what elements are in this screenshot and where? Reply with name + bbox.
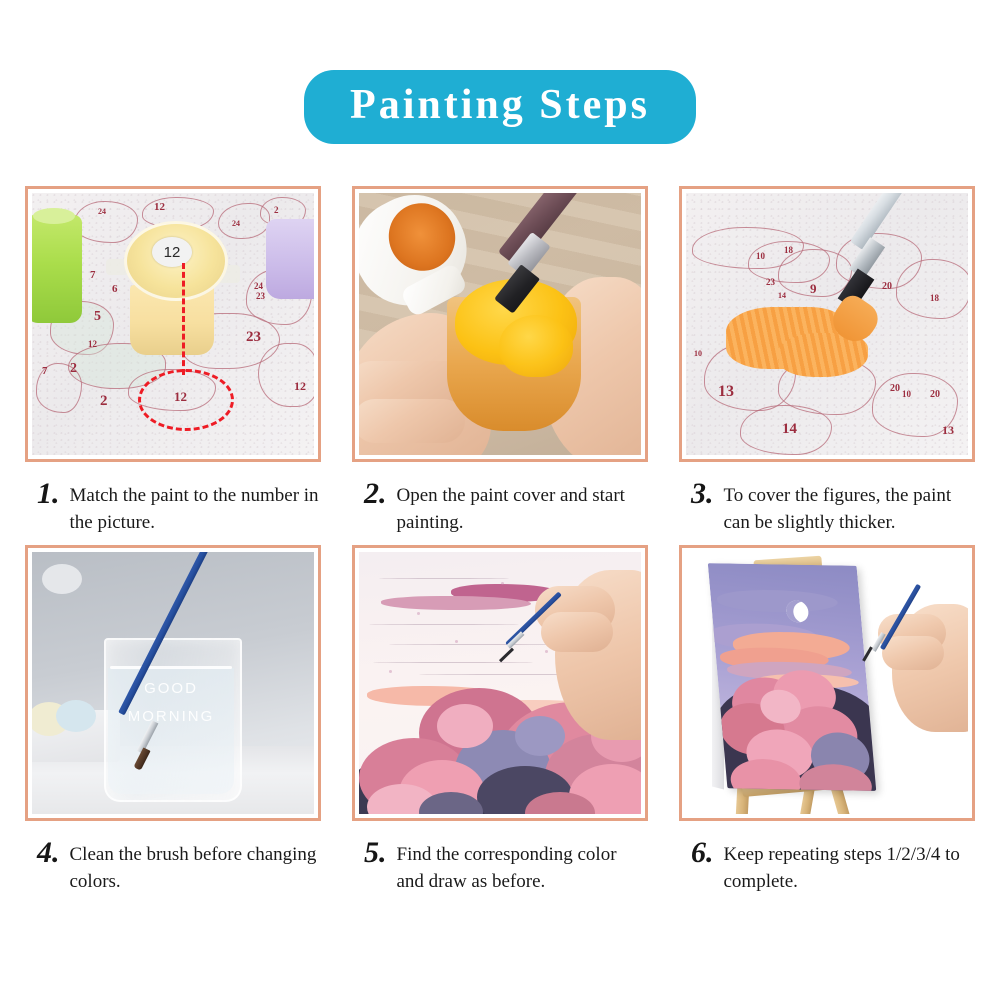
step-5-caption: 5. Find the corresponding color and draw…	[352, 821, 648, 896]
canvas-number: 24	[254, 281, 263, 291]
canvas-number: 12	[154, 201, 165, 213]
open-paint-pot-photo	[359, 193, 641, 455]
canvas-number: 20	[882, 281, 892, 292]
brush-stroke-on-canvas-photo: 10 18 23 14 9 20 18 10 20 13 14 20 10 20…	[686, 193, 968, 455]
step-4-photo-frame: GOOD MORNING	[25, 545, 321, 821]
purple-paint-pot	[266, 219, 314, 299]
page-title-banner: Painting Steps	[304, 70, 696, 144]
paint-pot-number-label: 12	[152, 237, 192, 267]
finished-canvas	[708, 563, 876, 791]
canvas-number: 2	[70, 361, 77, 377]
step-card-4: GOOD MORNING 4. Clean the brush before c…	[25, 545, 321, 896]
step-text: To cover the figures, the paint can be s…	[724, 478, 974, 537]
header: Painting Steps	[0, 0, 1000, 144]
step-number: 3.	[691, 478, 714, 509]
canvas-number: 12	[88, 339, 97, 349]
finished-painting-on-easel-photo	[686, 552, 968, 814]
step-3-caption: 3. To cover the figures, the paint can b…	[679, 462, 975, 537]
step-number: 2.	[364, 478, 387, 509]
step-text: Match the paint to the number in the pic…	[70, 478, 320, 537]
step-4-caption: 4. Clean the brush before changing color…	[25, 821, 321, 896]
canvas-number: 14	[778, 291, 786, 300]
green-paint-pot	[32, 215, 82, 323]
canvas-number: 14	[782, 421, 797, 438]
canvas-number: 12	[294, 379, 306, 394]
target-number-label: 12	[174, 389, 187, 405]
glass-text-line-1: GOOD	[104, 680, 238, 697]
step-text: Keep repeating steps 1/2/3/4 to complete…	[724, 837, 974, 896]
paint-pot-matching-number-photo: 12 24 2 24 7 6 5 12 2 7 2 23 24 23 12	[32, 193, 314, 455]
steps-grid: 12 24 2 24 7 6 5 12 2 7 2 23 24 23 12	[25, 186, 975, 896]
step-6-caption: 6. Keep repeating steps 1/2/3/4 to compl…	[679, 821, 975, 896]
step-1-photo-frame: 12 24 2 24 7 6 5 12 2 7 2 23 24 23 12	[25, 186, 321, 462]
canvas-number: 13	[718, 383, 734, 401]
step-text: Open the paint cover and start painting.	[397, 478, 647, 537]
canvas-number: 6	[112, 283, 118, 295]
step-6-photo-frame	[679, 545, 975, 821]
canvas-number: 2	[100, 393, 108, 410]
canvas-number: 20	[930, 389, 940, 400]
step-card-3: 10 18 23 14 9 20 18 10 20 13 14 20 10 20…	[679, 186, 975, 537]
canvas-number: 18	[784, 245, 793, 255]
step-5-photo-frame	[352, 545, 648, 821]
canvas-number: 23	[246, 329, 261, 346]
canvas-number: 18	[930, 293, 939, 303]
brush-in-water-glass-photo: GOOD MORNING	[32, 552, 314, 814]
canvas-number: 23	[766, 277, 775, 287]
canvas-number: 10	[902, 389, 911, 399]
step-card-6: 6. Keep repeating steps 1/2/3/4 to compl…	[679, 545, 975, 896]
step-2-caption: 2. Open the paint cover and start painti…	[352, 462, 648, 537]
canvas-number: 9	[810, 281, 817, 297]
canvas-number: 7	[42, 365, 48, 377]
canvas-number: 13	[942, 423, 954, 438]
canvas-number: 10	[694, 349, 702, 358]
step-2-photo-frame	[352, 186, 648, 462]
canvas-number: 23	[256, 291, 265, 301]
step-3-photo-frame: 10 18 23 14 9 20 18 10 20 13 14 20 10 20…	[679, 186, 975, 462]
step-number: 1.	[37, 478, 60, 509]
step-1-caption: 1. Match the paint to the number in the …	[25, 462, 321, 537]
step-text: Clean the brush before changing colors.	[70, 837, 320, 896]
canvas-number: 2	[274, 205, 279, 215]
canvas-number: 20	[890, 383, 900, 394]
canvas-number: 5	[94, 309, 101, 325]
step-text: Find the corresponding color and draw as…	[397, 837, 647, 896]
canvas-number: 10	[756, 251, 765, 261]
pointer-dashed-line	[182, 263, 185, 375]
canvas-number: 24	[98, 207, 106, 216]
step-card-5: 5. Find the corresponding color and draw…	[352, 545, 648, 896]
canvas-number: 7	[90, 269, 96, 281]
painting-blossoms-photo	[359, 552, 641, 814]
canvas-number: 24	[232, 219, 240, 228]
step-card-2: 2. Open the paint cover and start painti…	[352, 186, 648, 537]
step-number: 4.	[37, 837, 60, 868]
step-number: 6.	[691, 837, 714, 868]
step-number: 5.	[364, 837, 387, 868]
step-card-1: 12 24 2 24 7 6 5 12 2 7 2 23 24 23 12	[25, 186, 321, 537]
page-title: Painting Steps	[350, 83, 650, 127]
